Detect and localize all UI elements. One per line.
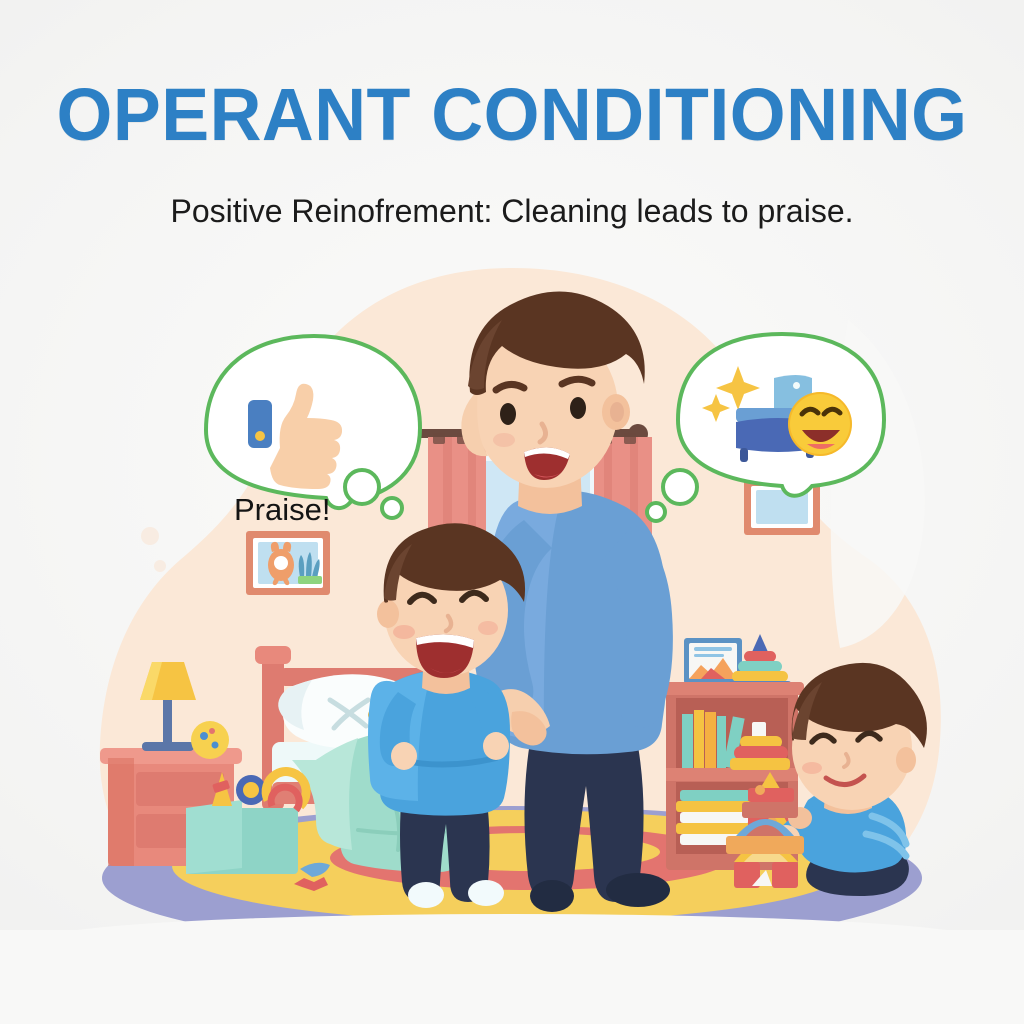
page-subtitle: Positive Reinofrement: Cleaning leads to…	[0, 192, 1024, 230]
page-title: OPERANT CONDITIONING	[15, 78, 1008, 152]
wall-frame-left	[246, 531, 330, 595]
ball-toy-on-nightstand	[191, 721, 229, 759]
praise-bubble-label: Praise!	[234, 492, 330, 528]
smiling-face-icon	[788, 392, 852, 456]
poster-canvas: OPERANT CONDITIONING Positive Reinofreme…	[0, 0, 1024, 1024]
